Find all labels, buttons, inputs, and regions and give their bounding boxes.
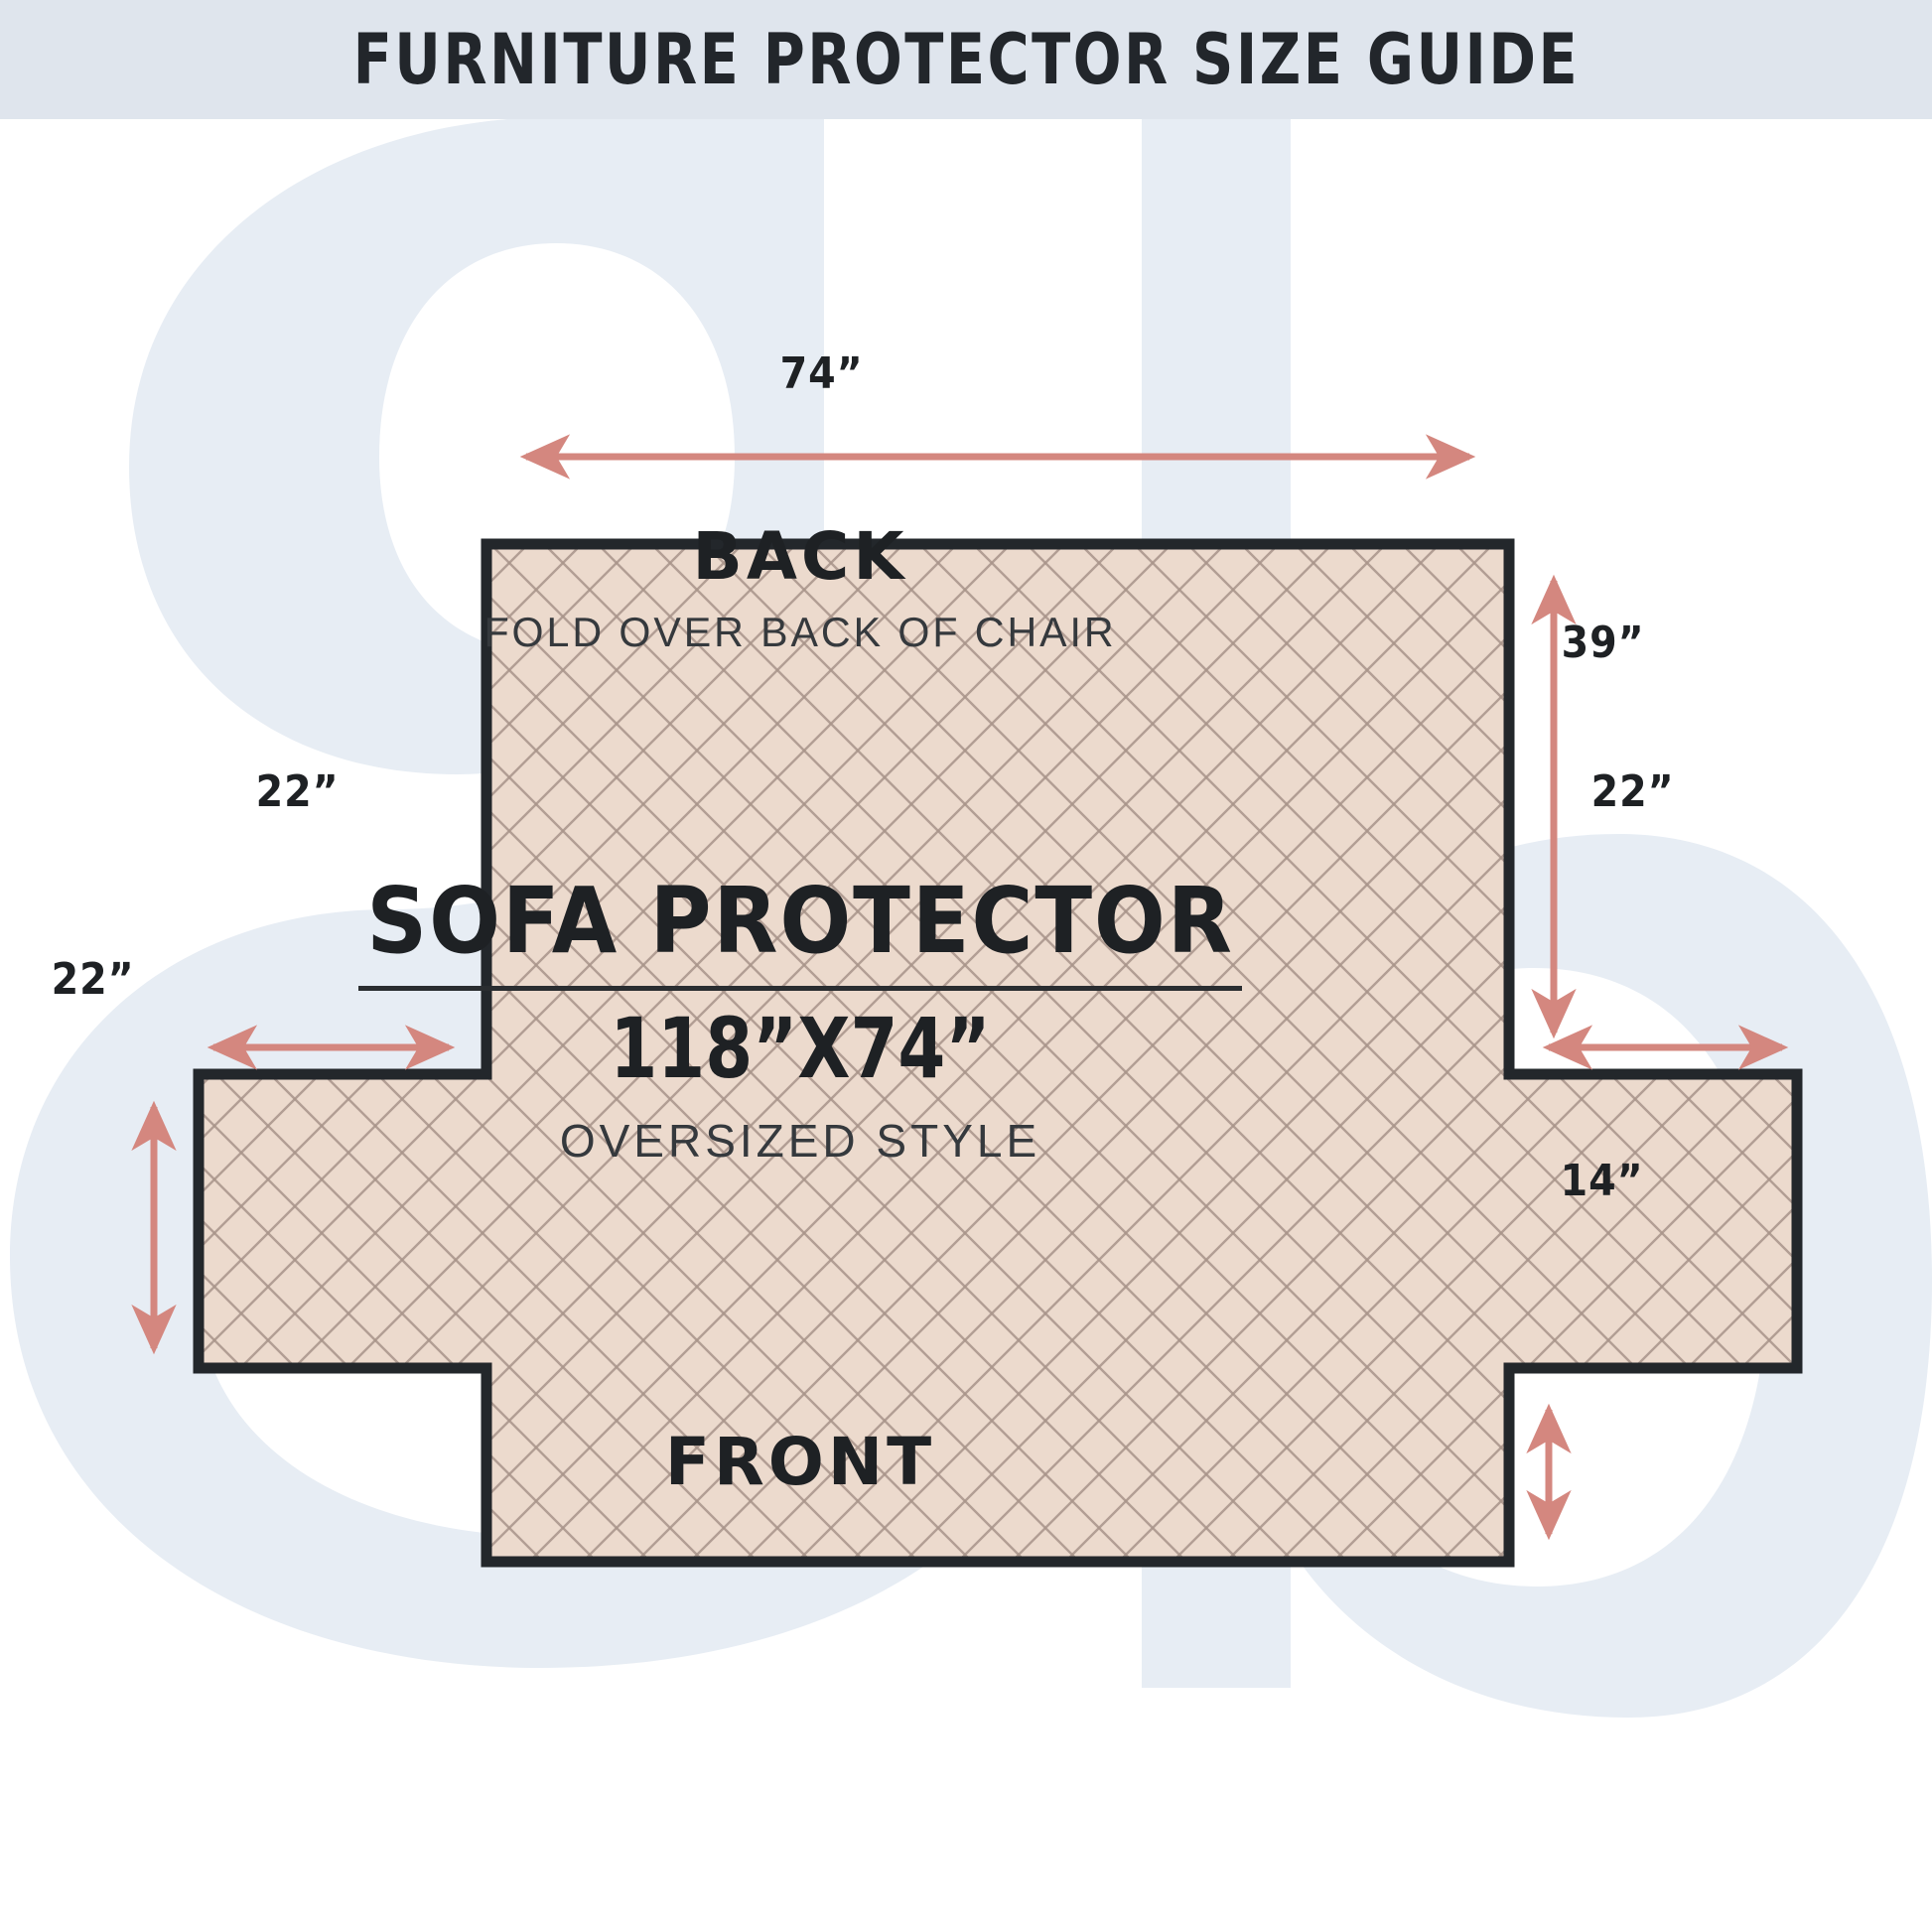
product-size: 118”X74” [8,1005,1592,1092]
product-style: OVERSIZED STYLE [0,1118,1766,1164]
dimension-label-front-skirt: 14” [1561,1160,1644,1203]
size-guide-canvas: FURNITURE PROTECTOR SIZE GUIDE [0,0,1932,1932]
product-title: SOFA PROTECTOR [0,874,1689,970]
back-section-label: BACK [0,524,1766,590]
front-section-label: FRONT [0,1430,1766,1495]
dimension-label-left-arm-width: 22” [256,770,340,814]
title-divider [358,986,1242,991]
back-section-sublabel: FOLD OVER BACK OF CHAIR [0,612,1747,653]
dimension-label-top-width: 74” [780,352,864,396]
dimension-label-right-arm-width: 22” [1591,770,1675,814]
product-info-block: SOFA PROTECTOR 118”X74” OVERSIZED STYLE [0,874,1766,1164]
